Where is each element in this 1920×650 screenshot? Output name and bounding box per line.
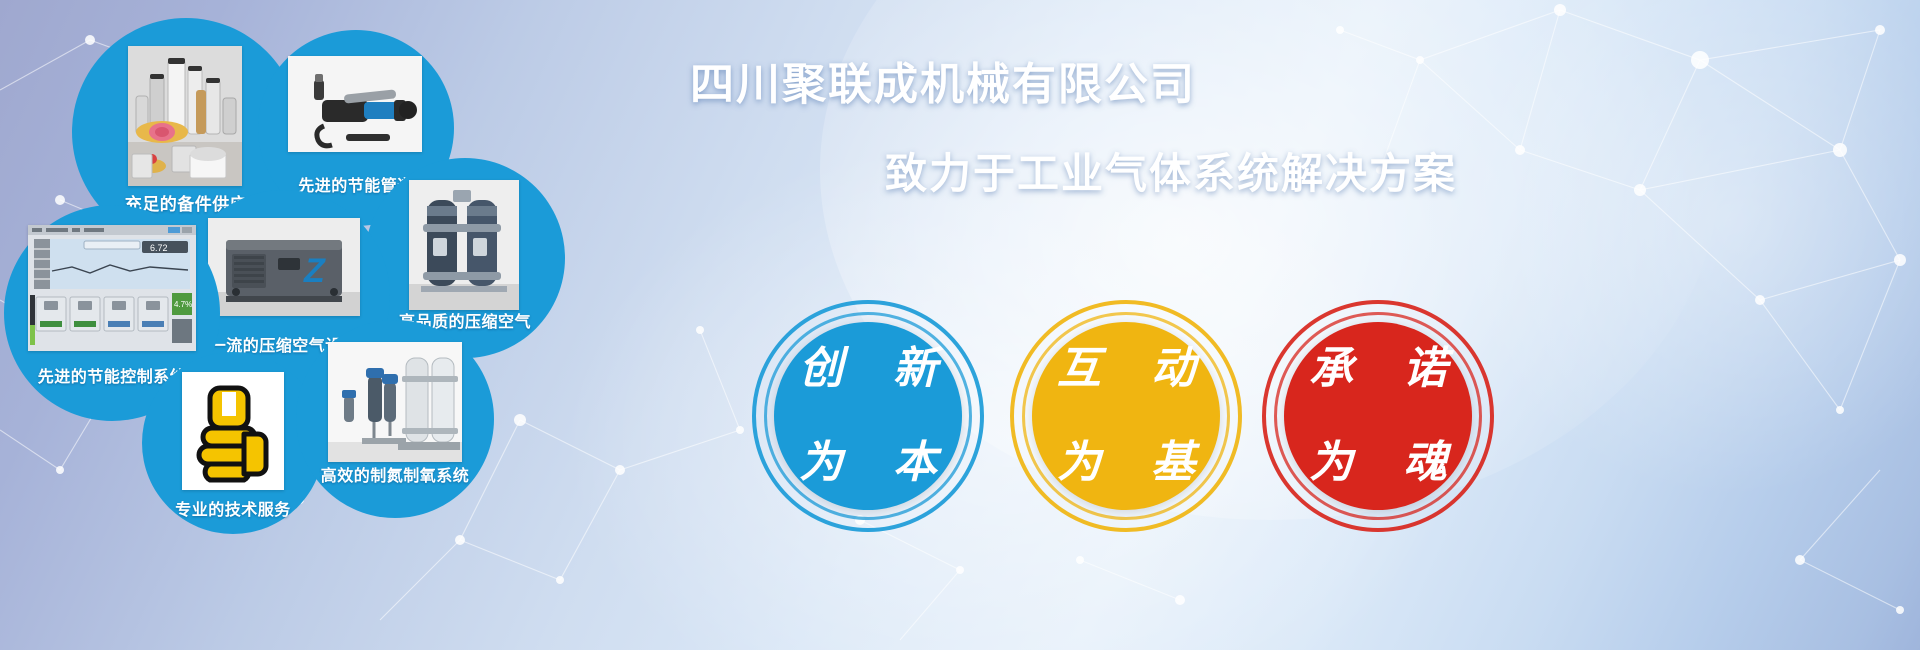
seal-char: 本: [893, 441, 937, 485]
seal-commitment: 承 诺 为 魂: [1262, 300, 1494, 532]
product-caption-nitrogen: 高效的制氮制氧系统: [321, 462, 470, 486]
seal-char: 基: [1151, 441, 1195, 485]
product-image-nitrogen: [328, 342, 462, 462]
product-image-parts: [128, 46, 242, 186]
seal-char: 为: [1309, 441, 1353, 485]
seal-interaction: 互 动 为 基: [1010, 300, 1242, 532]
seal-char: 动: [1151, 347, 1195, 391]
product-image-pipe: [288, 56, 422, 152]
svg-text:Z: Z: [303, 252, 326, 290]
company-subheadline: 致力于工业气体系统解决方案: [885, 140, 1457, 201]
seal-char: 承: [1309, 347, 1353, 391]
product-highlights-cluster: 充足的备件供应: [0, 0, 620, 650]
thumbs-up-icon: [182, 372, 284, 490]
product-caption-service: 专业的技术服务: [175, 496, 291, 520]
seal-char: 新: [893, 347, 937, 391]
company-banner: 充足的备件供应: [0, 0, 1920, 650]
seal-text-yellow: 互 动 为 基: [1032, 322, 1220, 510]
seal-char: 魂: [1403, 441, 1447, 485]
product-bubble-nitrogen[interactable]: 高效的制氮制氧系统: [296, 320, 494, 518]
background-glow-right: [1450, 0, 1920, 500]
seal-text-blue: 创 新 为 本: [774, 322, 962, 510]
seal-innovation: 创 新 为 本: [752, 300, 984, 532]
product-image-air: [409, 180, 519, 310]
seal-text-red: 承 诺 为 魂: [1284, 322, 1472, 510]
product-image-service: [182, 372, 284, 490]
company-headline: 四川聚联成机械有限公司: [690, 48, 1196, 112]
svg-text:4.7%: 4.7%: [174, 300, 192, 309]
seal-char: 创: [799, 347, 843, 391]
product-image-compressor: Z: [208, 218, 360, 316]
product-bubble-service[interactable]: 专业的技术服务: [142, 352, 324, 534]
seal-char: 为: [1057, 441, 1101, 485]
seal-char: 诺: [1403, 347, 1447, 391]
seal-char: 互: [1057, 347, 1101, 391]
product-image-control: 6.72: [28, 225, 196, 351]
seal-char: 为: [799, 441, 843, 485]
svg-text:6.72: 6.72: [150, 243, 168, 253]
